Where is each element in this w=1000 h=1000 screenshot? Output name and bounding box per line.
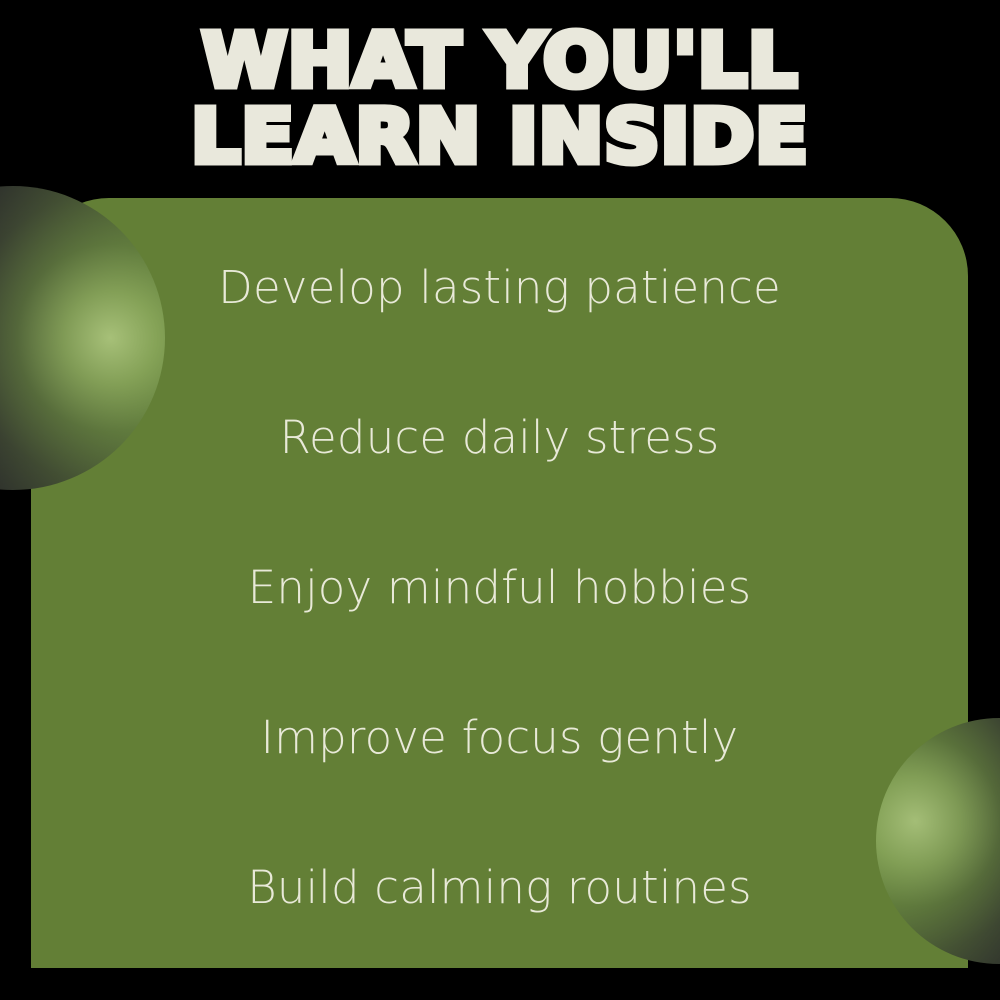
list-item: Improve focus gently (261, 710, 739, 766)
title-line-1: WHAT YOU'LL (0, 26, 1000, 96)
title-line-2: LEARN INSIDE (0, 102, 1000, 172)
list-item: Enjoy mindful hobbies (248, 560, 752, 616)
list-item: Build calming routines (247, 860, 752, 916)
benefits-list: Develop lasting patience Reduce daily st… (31, 198, 968, 968)
page-title: WHAT YOU'LL LEARN INSIDE (0, 26, 1000, 172)
benefits-card: Develop lasting patience Reduce daily st… (31, 198, 968, 968)
poster-canvas: WHAT YOU'LL LEARN INSIDE Develop lasting… (0, 0, 1000, 1000)
list-item: Reduce daily stress (280, 410, 720, 466)
list-item: Develop lasting patience (218, 260, 781, 316)
